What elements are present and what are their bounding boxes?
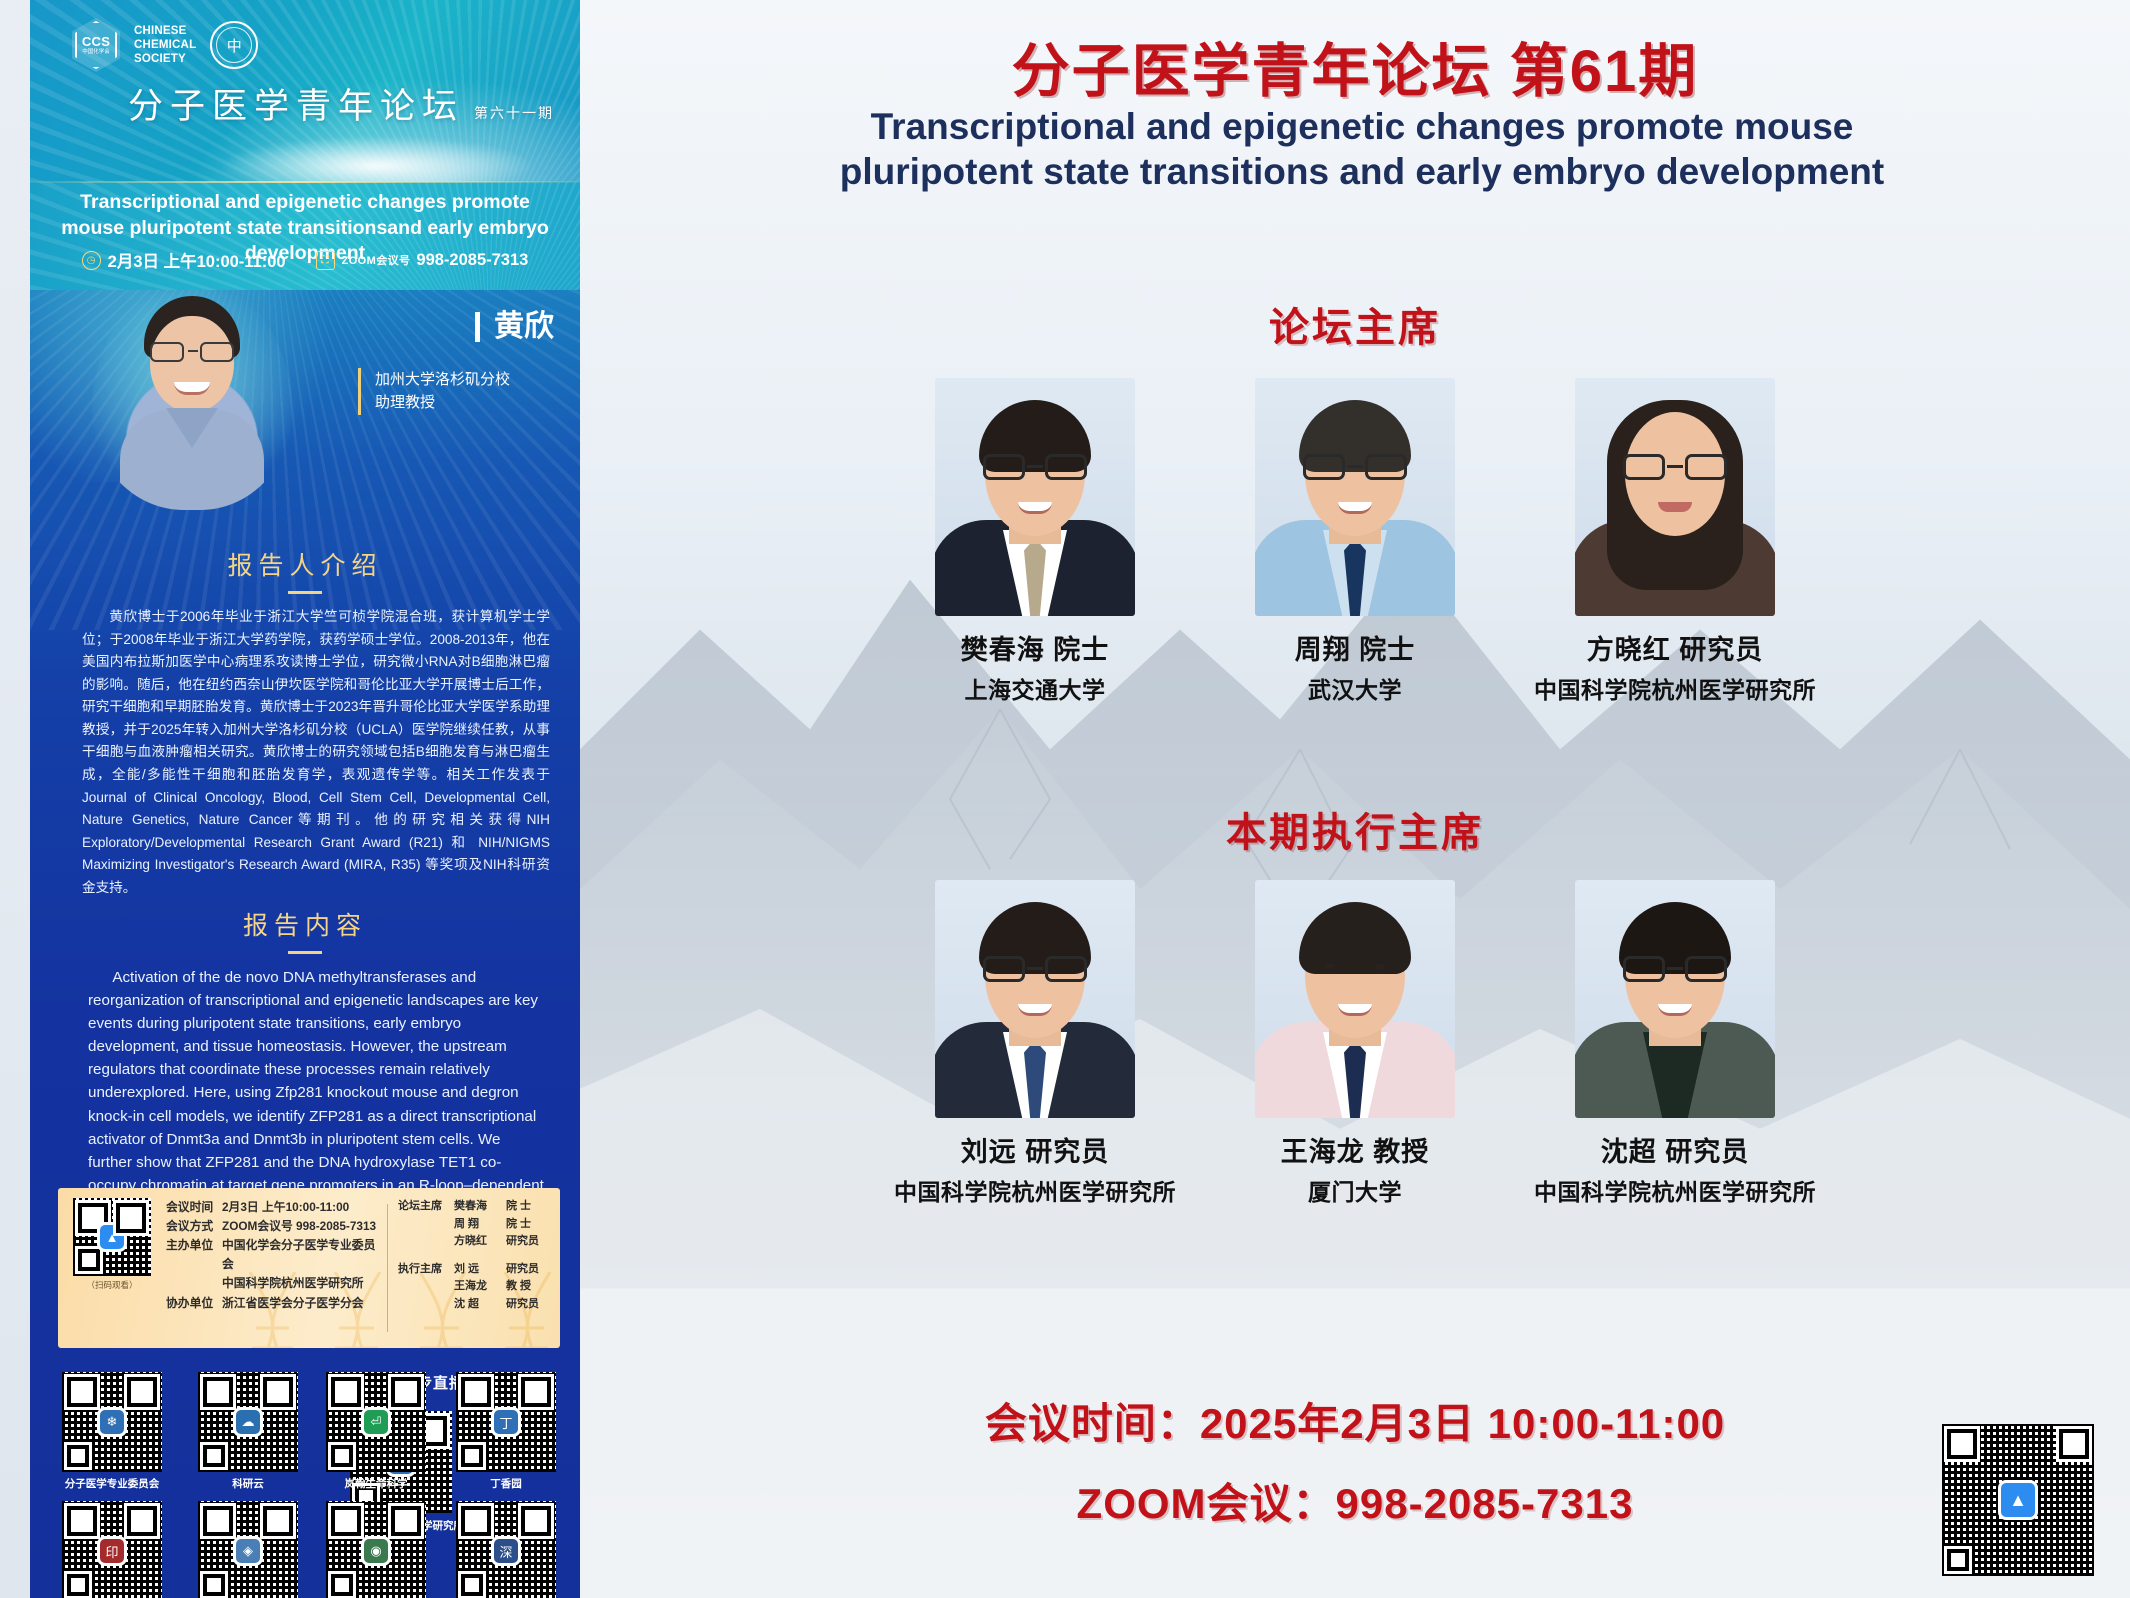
poster-time-group: ◷ 2月3日 上午10:00-11:00: [82, 248, 286, 272]
chair-name: 沈 超: [454, 1296, 496, 1314]
chair-affiliation: 中国科学院杭州医学研究所: [894, 1173, 1176, 1207]
info-value: 2月3日 上午10:00-11:00: [222, 1198, 349, 1217]
meeting-info-rows: 会议时间2月3日 上午10:00-11:00 会议方式ZOOM会议号 998-2…: [154, 1198, 377, 1338]
chair-name: 沈超 研究员: [1601, 1130, 1750, 1169]
speaker-affiliation-line1: 加州大学洛杉矶分校: [375, 368, 554, 391]
chair-name: 樊春海: [454, 1198, 496, 1216]
chair-name: 王海龙: [454, 1278, 496, 1296]
chair-title: 教 授: [506, 1278, 531, 1296]
poster-title-cn-wrap: 分子医学青年论坛 第六十一期: [128, 78, 554, 129]
medical-seal-icon: 中: [210, 21, 258, 69]
info-row: 会议时间2月3日 上午10:00-11:00: [166, 1198, 377, 1217]
qr-caption: 科研云: [232, 1476, 264, 1491]
speaker-name: 黄欣: [475, 312, 554, 342]
info-key: 协办单位: [166, 1294, 222, 1313]
forum-chair-label: 论坛主席: [398, 1198, 454, 1251]
glasses-icon: [1303, 454, 1407, 480]
chair-name: 方晓红: [454, 1233, 496, 1251]
chair-card: 刘远 研究员 中国科学院杭州医学研究所: [875, 880, 1195, 1207]
chair-name: 方晓红 研究员: [1587, 628, 1764, 667]
chair-card: 沈超 研究员 中国科学院杭州医学研究所: [1515, 880, 1835, 1207]
glasses-icon: [983, 454, 1087, 480]
photo-logo-icon[interactable]: ◉: [326, 1501, 426, 1598]
glasses-icon: [1623, 454, 1727, 480]
chair-name: 樊春海 院士: [961, 628, 1110, 667]
poster-title-cn: 分子医学青年论坛: [128, 78, 464, 129]
speaker-affiliation-line2: 助理教授: [375, 391, 554, 414]
portrait-shen-chao: [1575, 880, 1775, 1118]
chair-name: 刘远 研究员: [961, 1130, 1110, 1169]
qr-item[interactable]: ☁ 科研云: [194, 1372, 302, 1491]
chair-title: 院 士: [506, 1216, 531, 1234]
registration-qr-caption: （扫码观看）: [86, 1279, 137, 1291]
chair-entry: 沈 超研究员: [454, 1296, 539, 1314]
qr-caption: 岚翰生命科学: [345, 1476, 408, 1491]
portrait-liu-yuan: [935, 880, 1135, 1118]
info-key: 会议方式: [166, 1217, 222, 1236]
qr-grid-right: ⏎ 岚翰生命科学 丁 丁香园 ◉ 基因与细胞科普 深: [322, 1372, 560, 1598]
right-title-cn: 分子医学青年论坛 第61期: [580, 24, 2130, 108]
chair-card: 王海龙 教授 厦门大学: [1195, 880, 1515, 1207]
forum-chair-heading: 论坛主席: [580, 295, 2130, 353]
chair-entry: 方晓红研究员: [454, 1233, 539, 1251]
poster-logos: CCS 中国化学会 CHINESE CHEMICAL SOCIETY 中: [72, 18, 258, 72]
info-card-divider: [387, 1204, 388, 1332]
header-highlight: [217, 136, 536, 182]
forum-chair-list: 樊春海院 士 周 翔院 士 方晓红研究员: [454, 1198, 539, 1251]
chair-name: 刘 远: [454, 1261, 496, 1279]
meeting-info-card: ▲ （扫码观看） 会议时间2月3日 上午10:00-11:00 会议方式ZOOM…: [58, 1188, 560, 1348]
chair-entry: 王海龙教 授: [454, 1278, 539, 1296]
speaker-photo: [92, 290, 292, 510]
poster-body: 黄欣 加州大学洛杉矶分校 助理教授 报告人介绍 黄欣博士于2006年毕业于浙江大…: [30, 290, 580, 1598]
ccs-cn-name: 中国化学会: [82, 50, 110, 56]
qr-caption: 丁香园: [490, 1476, 522, 1491]
info-key: 主办单位: [166, 1236, 222, 1274]
forum-chairs-row: 樊春海 院士 上海交通大学 周翔 院士 武汉大学: [580, 378, 2130, 705]
seal-logo-icon[interactable]: 印: [62, 1501, 162, 1598]
footer-zoom-info: ZOOM会议：998-2085-7313: [580, 1470, 2130, 1531]
poster-meta-row: ◷ 2月3日 上午10:00-11:00 ⛶ ZOOM会议号 998-2085-…: [30, 248, 580, 272]
qr-item[interactable]: ◉ 基因与细胞科普: [322, 1501, 430, 1598]
chair-title: 研究员: [506, 1296, 539, 1314]
exec-chair-list: 刘 远研究员 王海龙教 授 沈 超研究员: [454, 1261, 539, 1314]
clock-icon: ◷: [82, 251, 101, 270]
abstract-heading: 报告内容: [30, 906, 580, 954]
qr-item[interactable]: 丁 丁香园: [452, 1372, 560, 1491]
qr-item[interactable]: ◈ 蔻享学术: [194, 1501, 302, 1598]
info-row: 协办单位浙江省医学会分子医学分会: [166, 1294, 377, 1313]
qr-grid-left: ❄ 分子医学专业委员会 ☁ 科研云 印 光华在线 ◈: [58, 1372, 302, 1598]
footer-meeting-time: 会议时间：2025年2月3日 10:00-11:00: [580, 1390, 2130, 1451]
chair-name: 周 翔: [454, 1216, 496, 1234]
qr-caption: 分子医学专业委员会: [65, 1476, 160, 1491]
chair-block: 论坛主席 樊春海院 士 周 翔院 士 方晓红研究员 执行主席 刘 远研究员: [398, 1198, 548, 1338]
ccs-abbr: CCS: [82, 35, 110, 48]
qr-item[interactable]: 深 深究科学: [452, 1501, 560, 1598]
registration-qr-code[interactable]: ▲: [73, 1198, 151, 1276]
info-value: 中国科学院杭州医学研究所: [222, 1274, 364, 1293]
chair-affiliation: 上海交通大学: [965, 671, 1106, 705]
speaker-affiliation: 加州大学洛杉矶分校 助理教授: [358, 368, 554, 415]
qr-item[interactable]: ❄ 分子医学专业委员会: [58, 1372, 166, 1491]
poster-left-margin: [0, 0, 30, 1598]
glasses-icon: [983, 956, 1087, 982]
portrait-wang-hailong: [1255, 880, 1455, 1118]
info-row: 会议方式ZOOM会议号 998-2085-7313: [166, 1217, 377, 1236]
portrait-fang-xiaohong: [1575, 378, 1775, 616]
chair-card: 方晓红 研究员 中国科学院杭州医学研究所: [1515, 378, 1835, 705]
chair-affiliation: 中国科学院杭州医学研究所: [1534, 1173, 1816, 1207]
glasses-icon: [1623, 956, 1727, 982]
speaker-glasses-icon: [148, 342, 236, 362]
portrait-zhou-xiang: [1255, 378, 1455, 616]
zoom-frame-icon: ⛶: [316, 251, 335, 270]
poster-screenshot: CCS 中国化学会 CHINESE CHEMICAL SOCIETY 中 分子医…: [0, 0, 2130, 1598]
science-logo-icon[interactable]: 深: [456, 1501, 556, 1598]
chair-entry: 刘 远研究员: [454, 1261, 539, 1279]
right-title-en: Transcriptional and epigenetic changes p…: [598, 104, 2126, 194]
qr-item[interactable]: ⏎ 岚翰生命科学: [322, 1372, 430, 1491]
info-value: 浙江省医学会分子医学分会: [222, 1294, 364, 1313]
cloud-logo-icon[interactable]: ☁: [198, 1372, 298, 1472]
chair-title: 院 士: [506, 1198, 531, 1216]
poster-gold-rule: [30, 181, 580, 183]
poster-zoom-id: 998-2085-7313: [416, 251, 528, 270]
speaker-face: [150, 316, 234, 412]
info-key: 会议时间: [166, 1198, 222, 1217]
ccs-wordmark: CHINESE CHEMICAL SOCIETY: [134, 24, 196, 66]
chair-card: 樊春海 院士 上海交通大学: [875, 378, 1195, 705]
lilac-logo-icon[interactable]: 丁: [456, 1372, 556, 1472]
registration-qr[interactable]: ▲ （扫码观看）: [70, 1198, 154, 1338]
qr-section: ❄ 分子医学专业委员会 ☁ 科研云 印 光华在线 ◈: [58, 1360, 566, 1598]
snowflake-logo-icon[interactable]: ❄: [62, 1372, 162, 1472]
portrait-fan-chunhai: [935, 378, 1135, 616]
forum-chair-row: 论坛主席 樊春海院 士 周 翔院 士 方晓红研究员: [398, 1198, 548, 1251]
right-title-en-line1: Transcriptional and epigenetic changes p…: [598, 104, 2126, 149]
poster-zoom-group: ⛶ ZOOM会议号 998-2085-7313: [316, 251, 529, 270]
chair-title: 研究员: [506, 1261, 539, 1279]
poster-time-text: 2月3日 上午10:00-11:00: [108, 248, 286, 272]
bio-paragraph: 黄欣博士于2006年毕业于浙江大学竺可桢学院混合班，获计算机学士学位；于2008…: [82, 606, 550, 899]
qr-item[interactable]: 印 光华在线: [58, 1501, 166, 1598]
bio-text: 黄欣博士于2006年毕业于浙江大学竺可桢学院混合班，获计算机学士学位；于2008…: [82, 606, 550, 899]
chair-title: 研究员: [506, 1233, 539, 1251]
diamond-logo-icon[interactable]: ◈: [198, 1501, 298, 1598]
exec-chair-row: 执行主席 刘 远研究员 王海龙教 授 沈 超研究员: [398, 1261, 548, 1314]
chair-affiliation: 厦门大学: [1308, 1173, 1402, 1207]
chair-entry: 周 翔院 士: [454, 1216, 539, 1234]
chair-name: 王海龙 教授: [1281, 1130, 1430, 1169]
ccs-hex-logo-icon: CCS 中国化学会: [72, 18, 120, 72]
info-value: ZOOM会议号 998-2085-7313: [222, 1217, 376, 1236]
poster-zoom-label: ZOOM会议号: [342, 252, 411, 268]
bio-heading: 报告人介绍: [30, 546, 580, 594]
info-row: 中国科学院杭州医学研究所: [166, 1274, 377, 1293]
info-value: 中国化学会分子医学专业委员会: [222, 1236, 377, 1274]
ccs-line-3: SOCIETY: [134, 52, 196, 66]
poster-issue-cn: 第六十一期: [474, 103, 554, 123]
exec-chairs-row: 刘远 研究员 中国科学院杭州医学研究所 王海龙 教授 厦门大学: [580, 880, 2130, 1207]
right-panel: 分子医学青年论坛 第61期 Transcriptional and epigen…: [580, 0, 2130, 1598]
right-title-en-line2: pluripotent state transitions and early …: [598, 149, 2126, 194]
chair-entry: 樊春海院 士: [454, 1198, 539, 1216]
exec-chair-label: 执行主席: [398, 1261, 454, 1314]
exec-chair-heading: 本期执行主席: [580, 800, 2130, 858]
chair-card: 周翔 院士 武汉大学: [1195, 378, 1515, 705]
chair-affiliation: 中国科学院杭州医学研究所: [1534, 671, 1816, 705]
ccs-line-2: CHEMICAL: [134, 38, 196, 52]
corner-qr-code[interactable]: ▲: [1942, 1424, 2094, 1576]
leaf-logo-icon[interactable]: ⏎: [326, 1372, 426, 1472]
chair-name: 周翔 院士: [1295, 628, 1416, 667]
info-key: [166, 1274, 222, 1293]
info-row: 主办单位中国化学会分子医学专业委员会: [166, 1236, 377, 1274]
ccs-line-1: CHINESE: [134, 24, 196, 38]
chair-affiliation: 武汉大学: [1308, 671, 1402, 705]
left-poster: CCS 中国化学会 CHINESE CHEMICAL SOCIETY 中 分子医…: [0, 0, 580, 1598]
